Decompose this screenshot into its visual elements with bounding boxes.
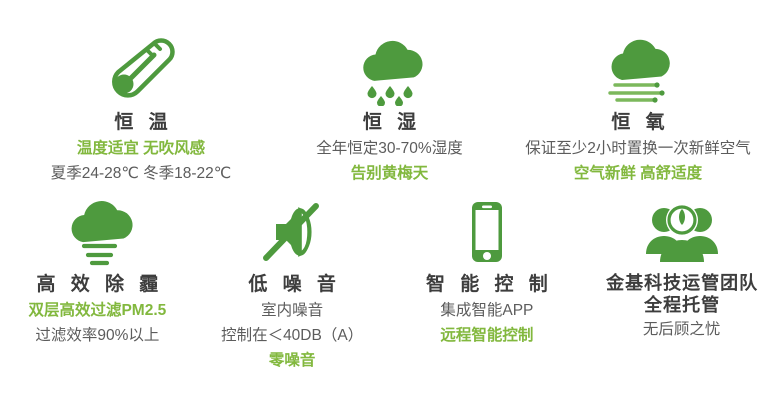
feature-line-2: 过滤效率90%以上 [35,323,159,348]
smartphone-icon [445,196,529,268]
feature-line-1: 无后顾之忧 [643,317,721,342]
rain-cloud-icon [348,34,432,106]
feature-title: 恒 温 [109,110,172,136]
feature-line-2: 告别黄梅天 [351,161,429,186]
feature-card-smart-control: 智 能 控 制 集成智能APP 远程智能控制 [390,196,585,373]
wind-cloud-icon [593,34,683,106]
feature-line-1: 全年恒定30-70%湿度 [316,136,462,161]
feature-title: 低 噪 音 [243,272,341,298]
feature-line-1: 温度适宜 无吹风感 [77,136,205,161]
team-people-icon [640,196,724,268]
feature-line-2: 远程智能控制 [440,323,533,348]
feature-title: 恒 氧 [606,110,669,136]
feature-title: 高 效 除 霾 [31,272,163,298]
feature-line-3: 零噪音 [269,348,316,373]
feature-line-2: 空气新鲜 高舒适度 [574,161,702,186]
feature-line-1: 双层高效过滤PM2.5 [28,298,166,323]
feature-line-2: 控制在＜40DB（A） [221,323,363,348]
feature-title-line-1: 金基科技运管团队 [605,272,758,295]
feature-card-operations-team: 金基科技运管团队 全程托管 无后顾之忧 [584,196,779,373]
feature-title-line-2: 全程托管 [605,294,758,317]
thermometer-icon [99,34,183,106]
feature-line-1: 室内噪音 [261,298,323,323]
feature-card-low-noise: 低 噪 音 室内噪音 控制在＜40DB（A） 零噪音 [195,196,390,373]
feature-line-1: 集成智能APP [440,298,533,323]
feature-card-constant-temperature: 恒 温 温度适宜 无吹风感 夏季24-28℃ 冬季18-22℃ [0,34,282,186]
features-row-1: 恒 温 温度适宜 无吹风感 夏季24-28℃ 冬季18-22℃ 恒 湿 [0,0,779,186]
feature-title: 智 能 控 制 [421,272,553,298]
feature-grid-board: 恒 温 温度适宜 无吹风感 夏季24-28℃ 冬季18-22℃ 恒 湿 [0,0,779,418]
features-row-2: 高 效 除 霾 双层高效过滤PM2.5 过滤效率90%以上 低 噪 音 室内噪音… [0,186,779,373]
feature-line-2: 夏季24-28℃ 冬季18-22℃ [51,161,231,186]
feature-card-constant-oxygen: 恒 氧 保证至少2小时置换一次新鲜空气 空气新鲜 高舒适度 [497,34,779,186]
filter-cloud-icon [55,196,139,268]
feature-line-1: 保证至少2小时置换一次新鲜空气 [525,136,751,161]
mute-speaker-icon [250,196,334,268]
feature-card-haze-removal: 高 效 除 霾 双层高效过滤PM2.5 过滤效率90%以上 [0,196,195,373]
feature-card-constant-humidity: 恒 湿 全年恒定30-70%湿度 告别黄梅天 [282,34,497,186]
feature-title: 金基科技运管团队 全程托管 [605,272,758,317]
feature-title: 恒 湿 [358,110,421,136]
